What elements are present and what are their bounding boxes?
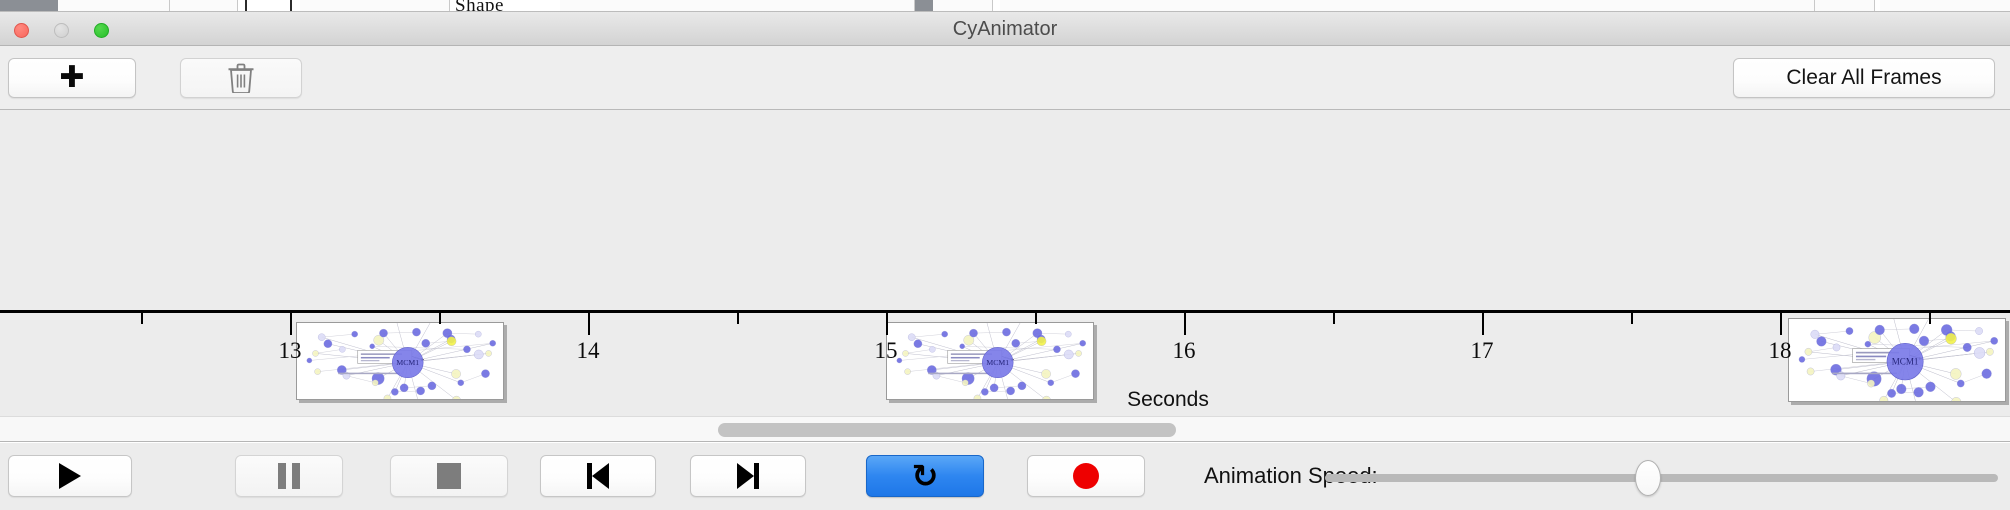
axis-tick-minor	[1631, 313, 1633, 324]
skip-next-button[interactable]	[690, 455, 806, 497]
axis-tick-minor	[1929, 313, 1931, 324]
pause-button[interactable]	[235, 455, 343, 497]
timeline-axis	[0, 310, 2010, 313]
delete-frame-button[interactable]	[180, 58, 302, 98]
axis-tick-minor	[1035, 313, 1037, 324]
axis-tick-minor	[737, 313, 739, 324]
playback-control-bar: ↻ Animation Speed:	[0, 443, 2010, 510]
axis-tick-minor	[439, 313, 441, 324]
skip-next-icon	[737, 463, 759, 489]
window-title: CyAnimator	[0, 12, 2010, 46]
stop-icon	[437, 463, 461, 489]
timeline-scrollbar-thumb[interactable]	[718, 423, 1176, 437]
background-desktop-strip: Shape	[0, 0, 2010, 12]
clear-all-frames-label: Clear All Frames	[1786, 66, 1941, 90]
axis-tick-label: 14	[577, 338, 600, 364]
record-icon	[1073, 463, 1099, 489]
axis-tick-major	[588, 313, 590, 335]
axis-tick-major	[1482, 313, 1484, 335]
record-button[interactable]	[1027, 455, 1145, 497]
trash-icon	[228, 63, 254, 93]
axis-caption-label: Seconds	[1127, 388, 1209, 411]
timeline-scrollbar[interactable]	[0, 416, 2010, 442]
axis-tick-label: 17	[1471, 338, 1494, 364]
animation-speed-slider[interactable]	[1325, 474, 1998, 482]
loop-button[interactable]: ↻	[866, 455, 984, 497]
frame-toolbar: ✚ Clear All Frames	[0, 46, 2010, 110]
svg-text:MCM1: MCM1	[1892, 356, 1919, 366]
play-button[interactable]	[8, 455, 132, 497]
axis-tick-major	[290, 313, 292, 335]
axis-tick-major	[1184, 313, 1186, 335]
title-bar: CyAnimator	[0, 12, 2010, 46]
axis-tick-label: 18	[1769, 338, 1792, 364]
pause-icon	[278, 463, 300, 489]
skip-previous-icon	[587, 463, 609, 489]
clear-all-frames-button[interactable]: Clear All Frames	[1733, 58, 1995, 98]
svg-text:MCM1: MCM1	[396, 358, 419, 367]
axis-tick-major	[1780, 313, 1782, 335]
slider-thumb[interactable]	[1635, 460, 1661, 496]
cyanimator-window: Shape CyAnimator ✚ Clear All Frames	[0, 0, 2010, 510]
axis-tick-label: 15	[875, 338, 898, 364]
loop-icon: ↻	[912, 460, 939, 492]
axis-tick-label: 16	[1173, 338, 1196, 364]
slider-track[interactable]	[1325, 474, 1998, 482]
skip-previous-button[interactable]	[540, 455, 656, 497]
add-frame-button[interactable]: ✚	[8, 58, 136, 98]
stop-button[interactable]	[390, 455, 508, 497]
axis-caption: Seconds	[0, 388, 2010, 412]
timeline-panel[interactable]: MCM1MCM1MCM1 2131415161718 Seconds	[0, 110, 2010, 416]
play-icon	[59, 463, 81, 489]
axis-tick-major	[886, 313, 888, 335]
svg-text:MCM1: MCM1	[986, 358, 1009, 367]
axis-tick-minor	[141, 313, 143, 324]
plus-icon: ✚	[59, 63, 84, 93]
axis-tick-minor	[1333, 313, 1335, 324]
axis-tick-label: 13	[279, 338, 302, 364]
